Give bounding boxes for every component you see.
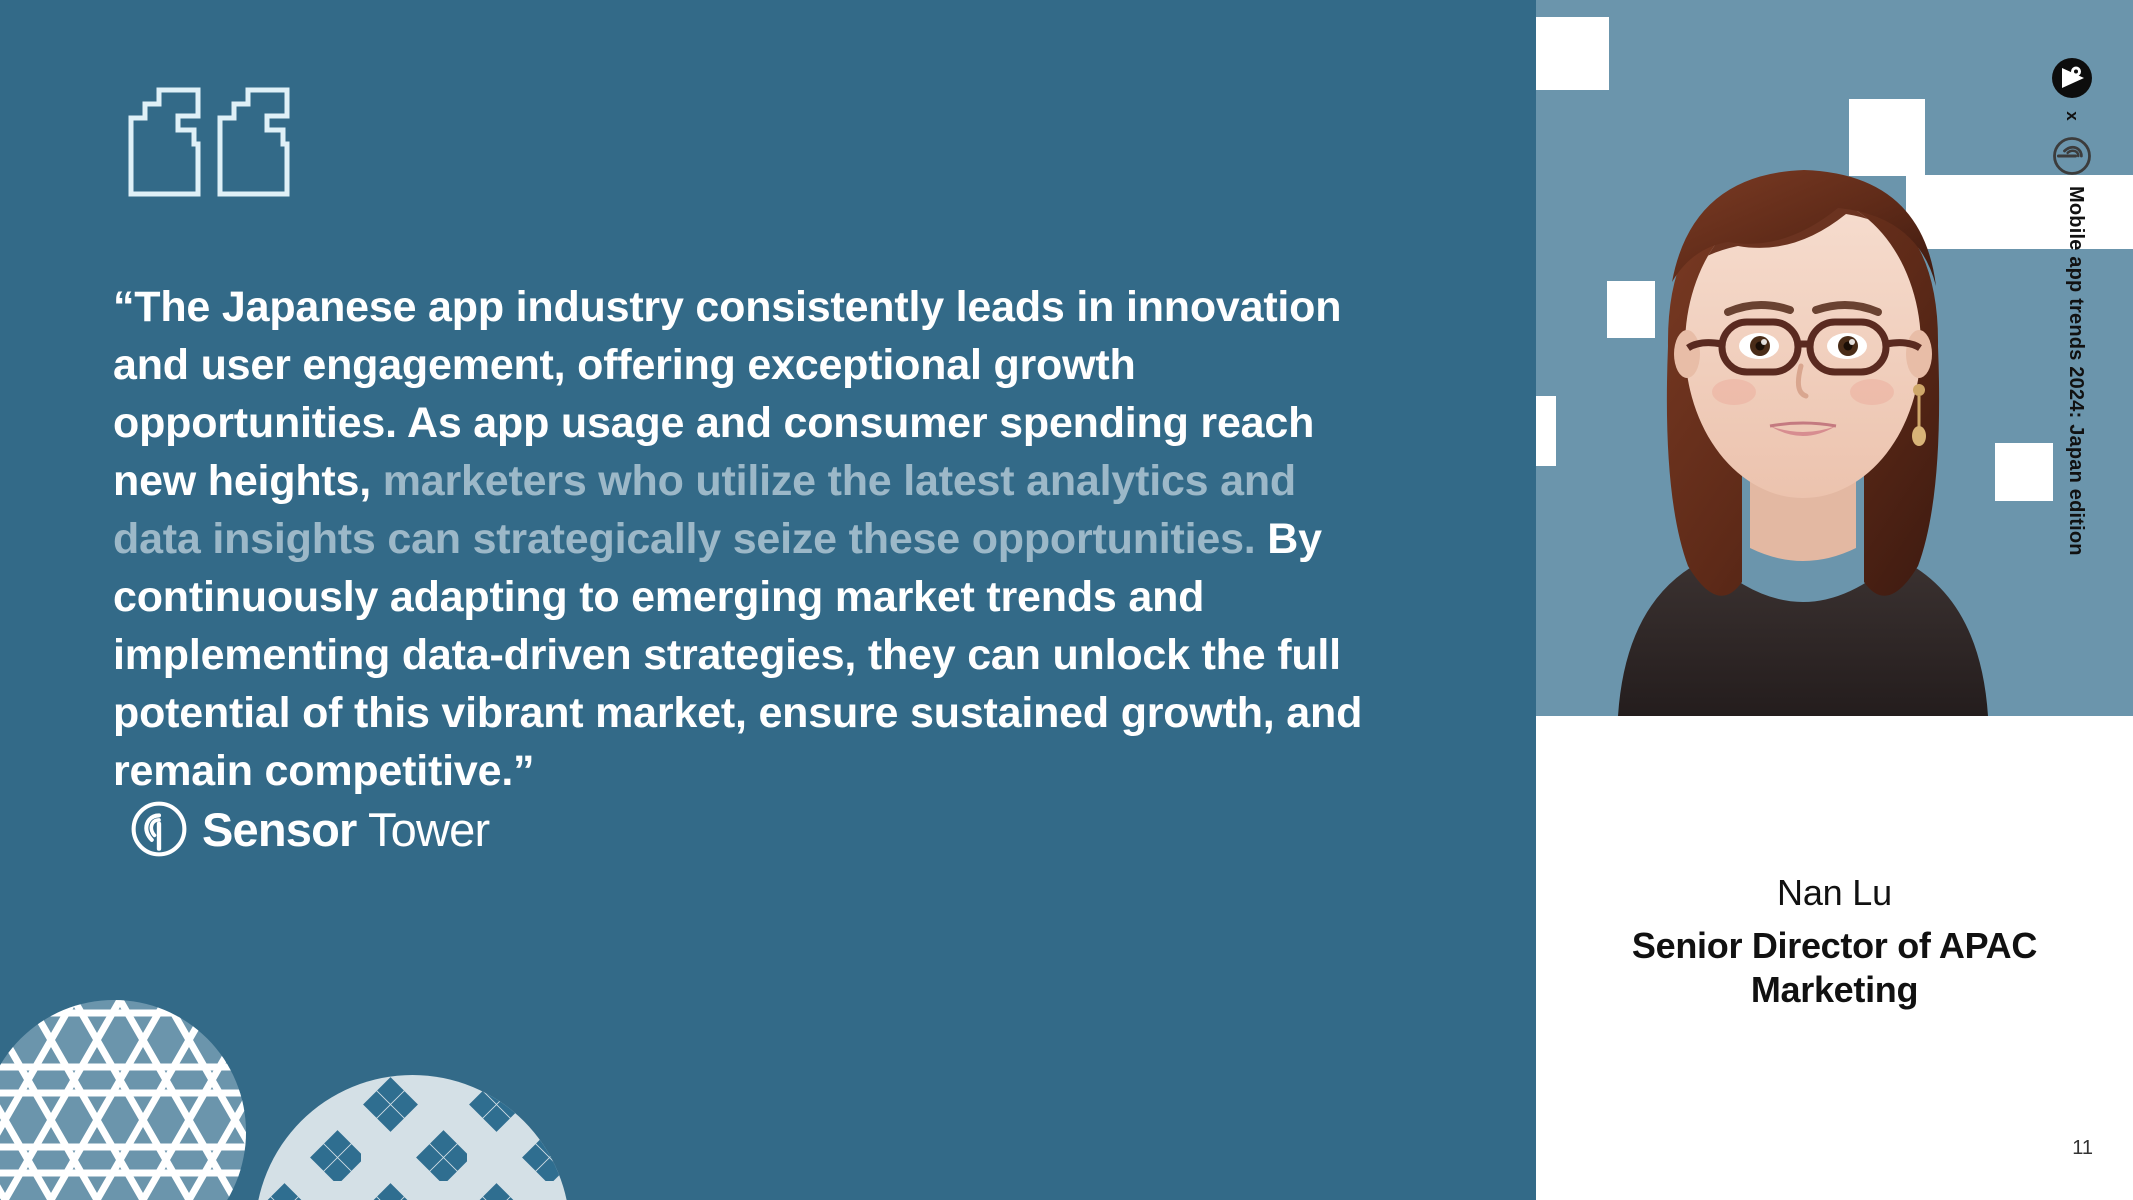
sensor-tower-logo: Sensor Tower (130, 800, 489, 858)
sensor-tower-wordmark: Sensor Tower (202, 806, 489, 853)
speaker-role: Senior Director of APAC Marketing (1572, 924, 2097, 1012)
quote-text: “The Japanese app industry consistently … (113, 278, 1363, 800)
left-quote-panel: “The Japanese app industry consistently … (0, 0, 1536, 1200)
decorative-diamond-circle (255, 1075, 570, 1200)
deco-square (1536, 17, 1609, 90)
speaker-name: Nan Lu (1572, 872, 2097, 914)
speaker-portrait (1588, 96, 2018, 716)
right-speaker-panel: x Mobile app trends 2024: Japan edition … (1536, 0, 2133, 1200)
quote-slide: “The Japanese app industry consistently … (0, 0, 2133, 1200)
deck-branding-rail: x Mobile app trends 2024: Japan edition (2039, 58, 2105, 698)
page-number: 11 (2072, 1137, 2093, 1160)
quote-mark-icon (128, 82, 293, 200)
logo-word-tower: Tower (357, 803, 490, 856)
speaker-caption: Nan Lu Senior Director of APAC Marketing (1536, 872, 2133, 1012)
sensor-tower-logo-icon (2052, 136, 2092, 176)
deco-square (1536, 396, 1556, 466)
quote-block: “The Japanese app industry consistently … (113, 278, 1363, 800)
deck-title: Mobile app trends 2024: Japan edition (2064, 186, 2087, 706)
decorative-lattice-circle (0, 1000, 246, 1200)
sensor-tower-logo-icon (130, 800, 188, 858)
speaker-photo-area: x Mobile app trends 2024: Japan edition (1536, 0, 2133, 716)
logo-word-sensor: Sensor (202, 803, 357, 856)
